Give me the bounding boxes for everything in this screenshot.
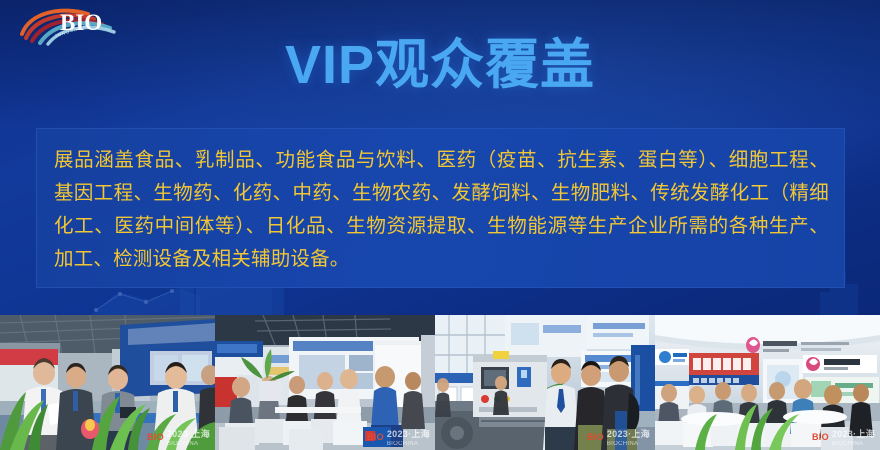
photo-watermark: BIO 2023·上海 BIOCHINA <box>812 427 875 447</box>
photo-angel-yeast-booth: BIO 2023·上海 BIOCHINA <box>655 315 880 450</box>
watermark-line2: BIOCHINA <box>607 441 638 447</box>
photo-strip: BIO 2023·上海 BIOCHINA <box>0 315 880 450</box>
watermark-mark: BIO <box>367 432 384 442</box>
watermark-line2: BIOCHINA <box>167 441 198 447</box>
watermark-mark: BIO <box>587 432 604 442</box>
photo-watermark: BIO 2023·上海 BIOCHINA <box>147 427 210 447</box>
description-text: 展品涵盖食品、乳制品、功能食品与饮料、医药（疫苗、抗生素、蛋白等）、细胞工程、基… <box>54 144 829 276</box>
photo-watermark: BIO 2023·上海 BIOCHINA <box>587 427 650 447</box>
photo-booth-seminar: BIO 2023·上海 BIOCHINA <box>215 315 435 450</box>
page-title: VIP观众覆盖 <box>0 34 880 96</box>
watermark-mark: BIO <box>812 432 829 442</box>
watermark-line1: 2023·上海 <box>832 429 875 439</box>
photo-exhibition-visitors: BIO 2023·上海 BIOCHINA <box>0 315 215 450</box>
watermark-line1: 2023·上海 <box>607 429 650 439</box>
watermark-line2: BIOCHINA <box>387 441 418 447</box>
hero-panel: BIO INNOVATION VIP观众覆盖 展品涵盖食品、乳制品、功能食品与饮… <box>0 0 880 316</box>
banner-stage: BIO INNOVATION VIP观众覆盖 展品涵盖食品、乳制品、功能食品与饮… <box>0 0 880 450</box>
watermark-line2: BIOCHINA <box>832 441 863 447</box>
watermark-mark: BIO <box>147 432 164 442</box>
description-box: 展品涵盖食品、乳制品、功能食品与饮料、医药（疫苗、抗生素、蛋白等）、细胞工程、基… <box>36 128 845 288</box>
photo-watermark: BIO 2023·上海 BIOCHINA <box>367 427 430 447</box>
photo-equipment-demo: BIO 2023·上海 BIOCHINA <box>435 315 655 450</box>
watermark-line1: 2023·上海 <box>387 429 430 439</box>
watermark-line1: 2023·上海 <box>167 429 210 439</box>
